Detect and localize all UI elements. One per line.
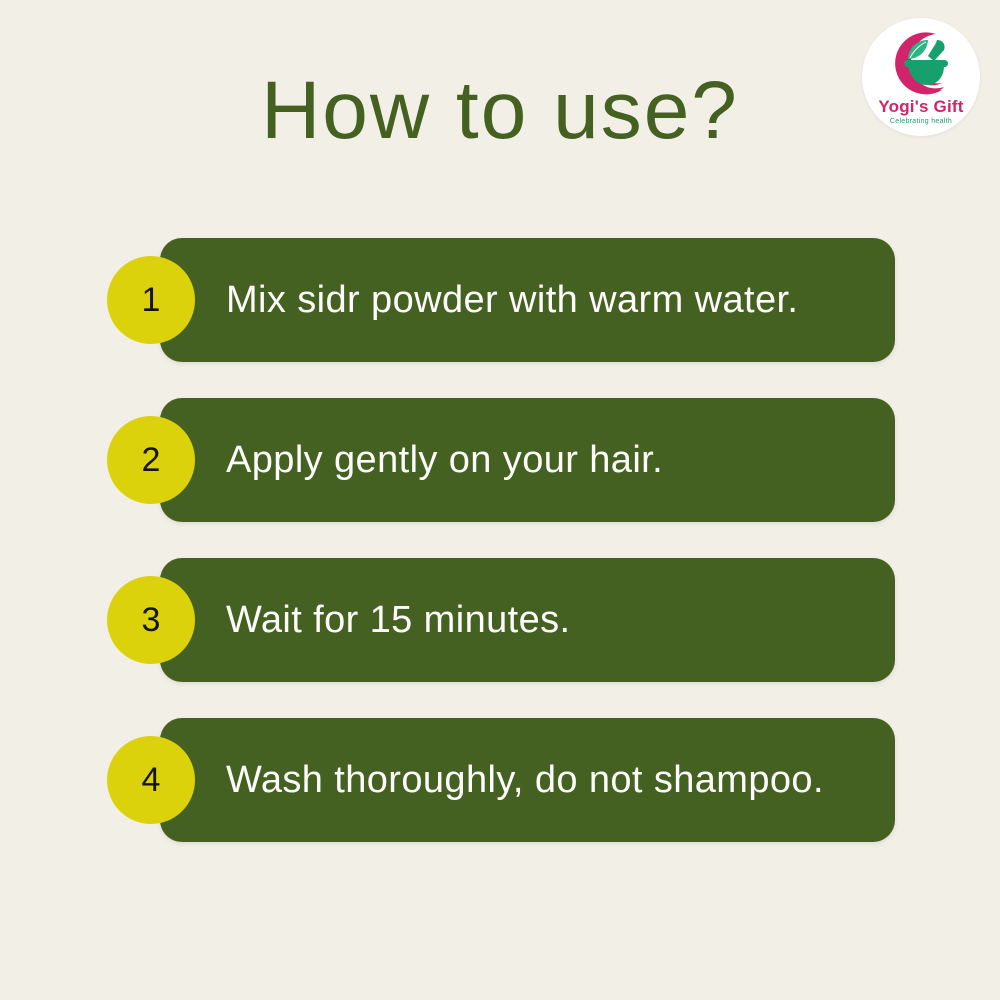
steps-list: Mix sidr powder with warm water.1Apply g… [0,0,1000,1000]
step-number-badge: 4 [107,736,195,824]
step-text: Apply gently on your hair. [226,398,663,522]
step-text: Mix sidr powder with warm water. [226,238,798,362]
step-row: Wait for 15 minutes.3 [0,558,1000,682]
step-row: Apply gently on your hair.2 [0,398,1000,522]
step-number-badge: 2 [107,416,195,504]
step-row: Wash thoroughly, do not shampoo.4 [0,718,1000,842]
step-row: Mix sidr powder with warm water.1 [0,238,1000,362]
step-text: Wash thoroughly, do not shampoo. [226,718,824,842]
step-text: Wait for 15 minutes. [226,558,571,682]
how-to-use-infographic: How to use? ® Yogi's Gift C [0,0,1000,1000]
step-number-badge: 3 [107,576,195,664]
step-number-badge: 1 [107,256,195,344]
